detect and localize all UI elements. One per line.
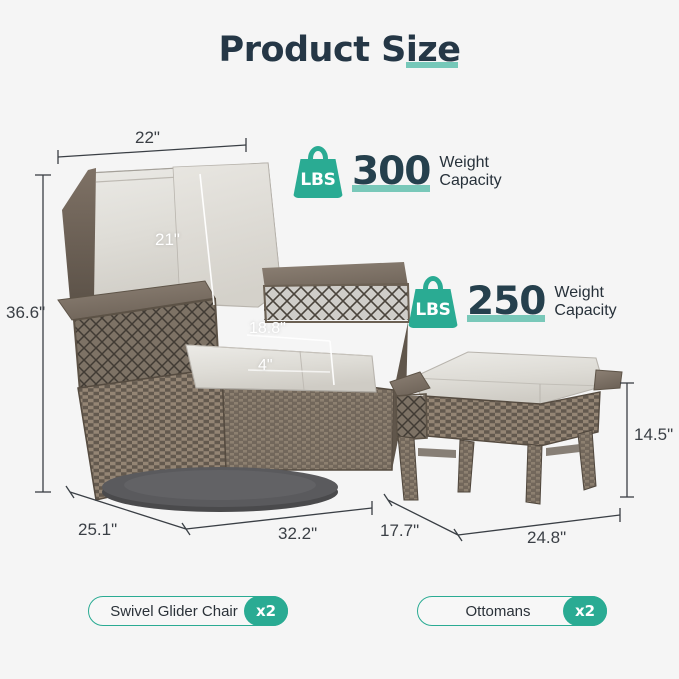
weight-capacity-badge-ottoman: LBS 250 Weight Capacity — [408, 276, 617, 328]
product-illustration — [0, 0, 679, 679]
weight-capacity-caption: Weight Capacity — [554, 284, 616, 320]
weight-lbs-icon: LBS — [408, 276, 458, 328]
ottoman-illustration — [390, 352, 622, 504]
weight-icon-label: LBS — [300, 170, 335, 190]
weight-capacity-caption: Weight Capacity — [439, 154, 501, 190]
chair-swivel-base — [102, 467, 338, 512]
dimension-label-chair-depth: 25.1" — [78, 520, 117, 540]
weight-icon-body: LBS — [293, 159, 343, 198]
weight-capacity-underline — [352, 185, 430, 192]
weight-icon-label: LBS — [415, 300, 450, 320]
swivel-glider-chair-illustration — [58, 163, 410, 512]
dimension-label-chair-height: 36.6" — [6, 303, 45, 323]
product-size-infographic: Product Size — [0, 0, 679, 679]
dimension-label-seat-depth: 18.8" — [249, 320, 286, 338]
dimension-label-back-cushion-height: 21" — [155, 230, 180, 250]
dimension-label-ottoman-depth: 17.7" — [380, 521, 419, 541]
weight-capacity-caption-line1: Weight — [439, 154, 501, 172]
weight-capacity-caption-line1: Weight — [554, 284, 616, 302]
weight-lbs-icon: LBS — [293, 146, 343, 198]
weight-capacity-underline — [467, 315, 545, 322]
weight-capacity-caption-line2: Capacity — [554, 302, 616, 320]
weight-capacity-value-wrapper: 250 — [467, 281, 545, 323]
product-pill-chair: Swivel Glider Chair x2 — [88, 596, 288, 626]
product-pill-ottoman-label: Ottomans — [459, 603, 564, 620]
weight-capacity-value-wrapper: 300 — [352, 151, 430, 193]
product-pill-ottoman: Ottomans x2 — [417, 596, 607, 626]
dimension-label-ottoman-height: 14.5" — [634, 425, 673, 445]
dimension-label-chair-width: 32.2" — [278, 524, 317, 544]
weight-capacity-caption-line2: Capacity — [439, 172, 501, 190]
product-pill-ottoman-quantity: x2 — [563, 596, 607, 626]
weight-icon-body: LBS — [408, 289, 458, 328]
dimension-label-ottoman-width: 24.8" — [527, 528, 566, 548]
dimension-label-back-width: 22" — [135, 128, 160, 148]
dimension-label-seat-thickness: 4" — [258, 357, 273, 375]
weight-capacity-badge-chair: LBS 300 Weight Capacity — [293, 146, 502, 198]
chair-seat-cushion — [186, 345, 376, 392]
product-pill-chair-quantity: x2 — [244, 596, 288, 626]
